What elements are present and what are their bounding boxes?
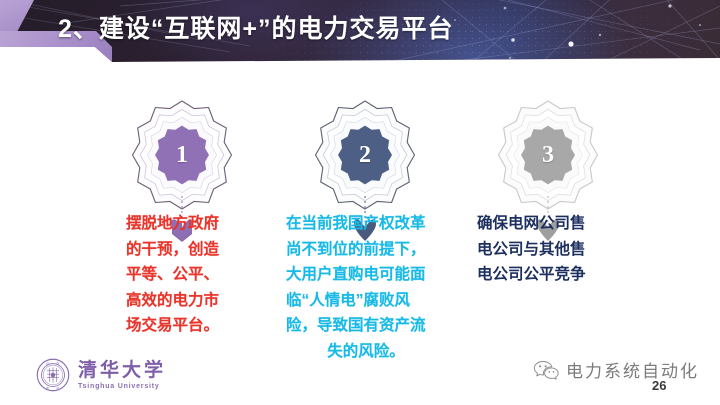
step-text-3: 确保电网公司售 电公司与其他售 电公司公平竞争 — [477, 211, 617, 288]
step-text-2-line-1: 在当前我国产权改革 — [286, 211, 446, 237]
step-text-1: 摆脱地方政府 的干预，创造 平等、公平、 高效的电力市 场交易平台。 — [126, 211, 266, 339]
wechat-account-mark: 电力系统自动化 — [533, 357, 699, 382]
step-text-2-line-4: 临“人情电”腐败风 — [286, 288, 446, 314]
wechat-account-name: 电力系统自动化 — [566, 357, 699, 382]
step-text-1-line-2: 的干预，创造 — [126, 237, 266, 263]
step-text-1-line-1: 摆脱地方政府 — [126, 211, 266, 237]
step-text-3-line-1: 确保电网公司售 — [477, 211, 617, 237]
page-title: 2、建设“互联网+”的电力交易平台 — [58, 12, 454, 46]
slide-canvas: 2、建设“互联网+”的电力交易平台 1 摆脱地方政府 的干预，创造 平等、公平、… — [0, 0, 720, 405]
svg-text:强: 强 — [56, 361, 59, 365]
step-text-3-line-2: 电公司与其他售 — [477, 237, 617, 263]
tsinghua-name-en: Tsinghua University — [78, 383, 166, 390]
step-text-1-line-3: 平等、公平、 — [126, 262, 266, 288]
page-number: 26 — [652, 378, 666, 393]
svg-text:自: 自 — [46, 361, 49, 365]
step-text-2-line-2: 尚不到位的前提下， — [286, 237, 446, 263]
tsinghua-logo: 自强 厚德 清华大学 Tsinghua University — [36, 358, 166, 392]
step-text-2-line-6: 失的风险。 — [286, 339, 446, 365]
step-text-2: 在当前我国产权改革 尚不到位的前提下， 大用户直购电可能面 临“人情电”腐败风 … — [286, 211, 446, 364]
step-text-3-line-3: 电公司公平竞争 — [477, 262, 617, 288]
wechat-icon — [533, 359, 559, 381]
step-text-2-line-3: 大用户直购电可能面 — [286, 262, 446, 288]
tsinghua-wordmark: 清华大学 Tsinghua University — [78, 361, 166, 390]
header-band: 2、建设“互联网+”的电力交易平台 — [0, 0, 720, 64]
step-text-2-line-5: 险，导致国有资产流 — [286, 313, 446, 339]
step-text-1-line-5: 场交易平台。 — [126, 313, 266, 339]
svg-text:德: 德 — [56, 386, 59, 390]
tsinghua-seal-icon: 自强 厚德 — [36, 358, 70, 392]
step-text-1-line-4: 高效的电力市 — [126, 288, 266, 314]
svg-text:厚: 厚 — [46, 386, 49, 390]
tsinghua-name-cn: 清华大学 — [78, 361, 166, 380]
